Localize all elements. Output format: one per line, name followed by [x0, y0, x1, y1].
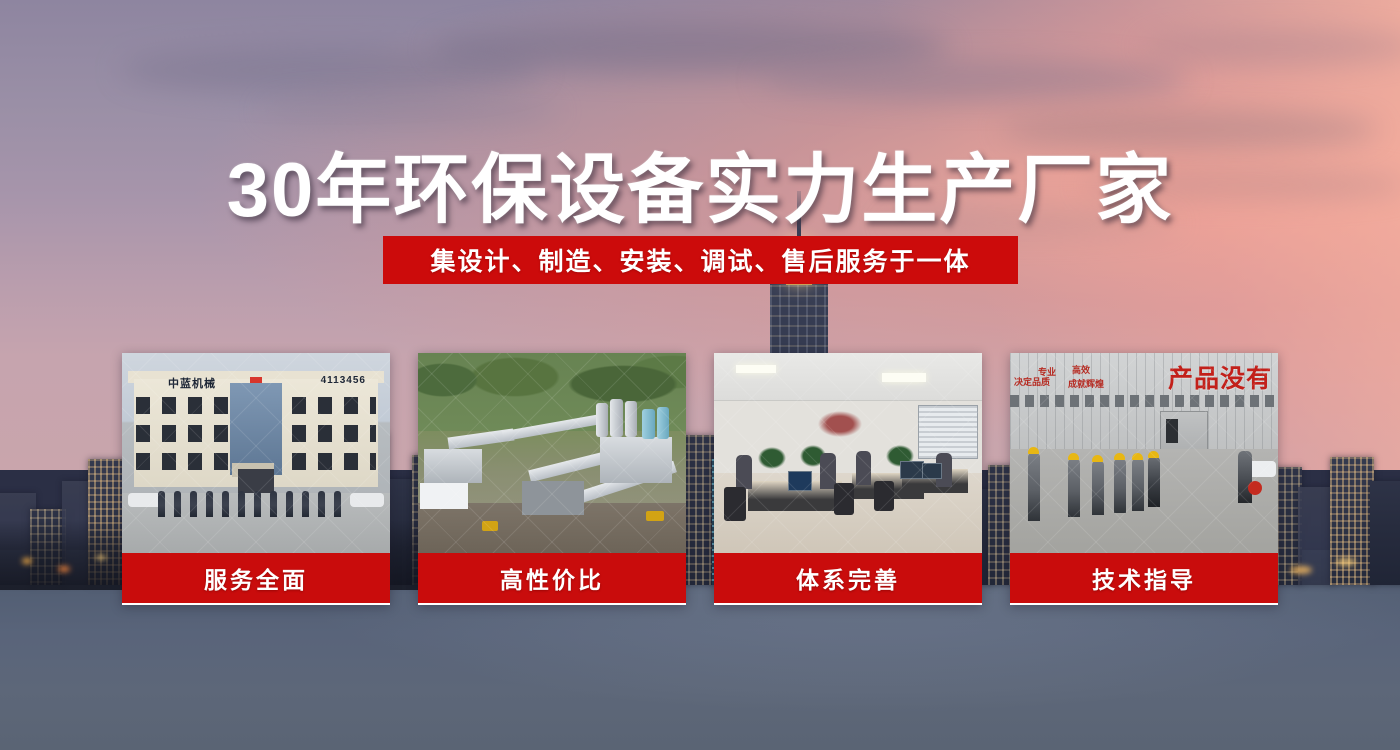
factory-slogan-3: 成就辉煌 — [1068, 379, 1104, 390]
feature-card[interactable]: 产品没有 决定品质 专业 高效 成就辉煌 — [1010, 353, 1278, 605]
card-photo-factory-workers: 产品没有 决定品质 专业 高效 成就辉煌 — [1010, 353, 1278, 553]
card-photo-company-building: 中蓝机械 4113456 — [122, 353, 390, 553]
factory-slogan-1: 专业 — [1038, 367, 1056, 378]
feature-card[interactable]: 体系完善 — [714, 353, 982, 605]
cloud — [760, 60, 1190, 100]
card-label: 服务全面 — [122, 553, 390, 603]
feature-card-list: 中蓝机械 4113456 — [122, 353, 1278, 605]
subtitle-text: 集设计、制造、安装、调试、售后服务于一体 — [430, 242, 970, 278]
subtitle-banner: 集设计、制造、安装、调试、售后服务于一体 — [383, 236, 1018, 284]
page-title: 30年环保设备实力生产厂家 — [0, 128, 1400, 238]
card-label: 体系完善 — [714, 553, 982, 603]
feature-card[interactable]: 高性价比 — [418, 353, 686, 605]
factory-wall-text: 产品没有 — [1168, 359, 1272, 395]
card-label-text: 高性价比 — [500, 561, 604, 595]
card-photo-office-interior — [714, 353, 982, 553]
card-label: 技术指导 — [1010, 553, 1278, 603]
factory-slogan-2: 高效 — [1072, 365, 1090, 376]
feature-card[interactable]: 中蓝机械 4113456 — [122, 353, 390, 605]
card-label-text: 体系完善 — [796, 561, 900, 595]
cloud — [260, 96, 560, 126]
card-label-text: 服务全面 — [204, 561, 308, 595]
building-sign-text: 中蓝机械 — [168, 375, 216, 391]
cloud — [1140, 30, 1400, 64]
card-label-text: 技术指导 — [1092, 561, 1196, 595]
building-phone-text: 4113456 — [321, 375, 366, 386]
card-label: 高性价比 — [418, 553, 686, 603]
banner-stage: 30年环保设备实力生产厂家 集设计、制造、安装、调试、售后服务于一体 中蓝机械 … — [0, 0, 1400, 750]
factory-slogan-4: 决定品质 — [1014, 377, 1050, 388]
card-photo-plant-aerial — [418, 353, 686, 553]
